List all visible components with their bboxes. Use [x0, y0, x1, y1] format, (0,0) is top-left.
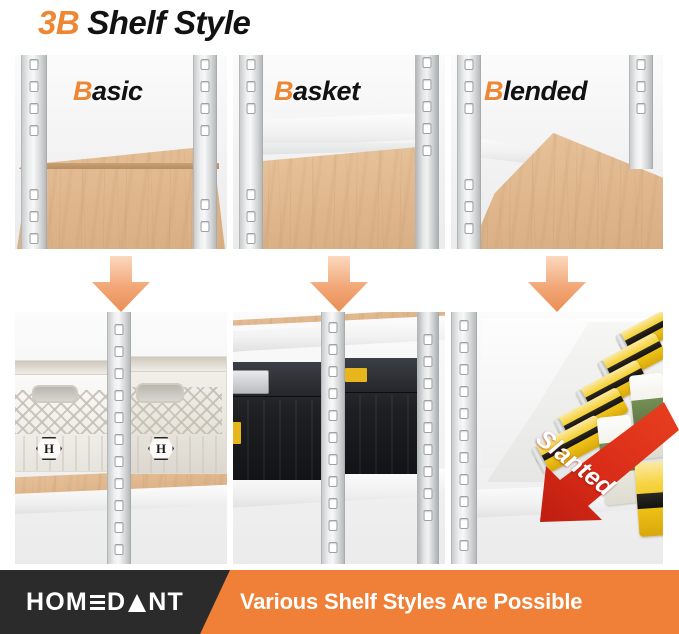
title-accent: 3B: [38, 4, 79, 41]
can-item: [634, 461, 663, 537]
arrow-down-icon: [308, 256, 370, 312]
shelf-post-front: [321, 312, 345, 564]
tool-box-latch: [233, 422, 241, 444]
panel-label-basket: Basket: [274, 76, 360, 107]
logo-part-hom: HOM: [26, 588, 88, 617]
tool-tray: [233, 370, 269, 394]
logo-a-triangle-icon: [128, 594, 146, 612]
crate-handle: [136, 383, 184, 403]
arrow-down-icon: [526, 256, 588, 312]
title-main: Shelf Style: [87, 4, 250, 41]
logo-part-nt: NT: [148, 588, 184, 617]
logo-part-d: D: [107, 588, 126, 617]
shelf-post-front: [107, 312, 131, 564]
shelf-post-left: [451, 312, 477, 564]
shelf-post-right: [193, 55, 217, 249]
crate-handle: [32, 385, 78, 403]
shelf-post-rear: [417, 312, 439, 564]
panel-label-blended: Blended: [484, 76, 587, 107]
shelf-post-right: [415, 55, 439, 249]
footer-tagline: Various Shelf Styles Are Possible: [240, 570, 582, 634]
shelf-post-left: [239, 55, 263, 249]
page-title: 3BShelf Style: [38, 0, 250, 46]
panel-label-basic: Basic: [73, 76, 143, 107]
milk-crate: H: [123, 356, 227, 474]
panel-basic-top: Basic: [15, 55, 227, 249]
panel-basket-bottom: [233, 312, 445, 564]
panel-basic-bottom: H H: [15, 312, 227, 564]
milk-crate: H: [15, 360, 113, 472]
tool-box-latch: [345, 368, 367, 382]
panel-basket-top: Basket: [233, 55, 445, 249]
shelf-post-right: [629, 55, 653, 169]
footer-bar: HOM D NT Various Shelf Styles Are Possib…: [0, 570, 679, 634]
panel-blended-top: Blended: [451, 55, 663, 249]
infographic-page: 3BShelf Style Basic: [0, 0, 679, 634]
board-front-edge: [19, 163, 219, 169]
arrow-down-icon: [90, 256, 152, 312]
logo-e-glyph-icon: [90, 595, 105, 610]
brand-logo: HOM D NT: [26, 570, 184, 634]
shelf-post-left: [21, 55, 47, 249]
shelf-post-left: [457, 55, 481, 249]
